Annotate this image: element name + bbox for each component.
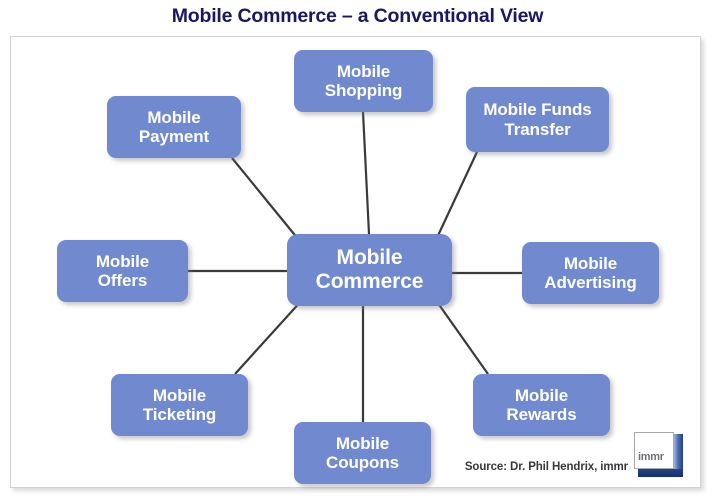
page-title: Mobile Commerce – a Conventional View [0, 5, 715, 28]
node-mobile-shopping[interactable]: MobileShopping [294, 50, 433, 112]
node-mobile-funds-transfer[interactable]: Mobile FundsTransfer [466, 87, 609, 152]
connector-mobile-commerce-to-mobile-shopping [363, 112, 369, 234]
node-mobile-advertising[interactable]: MobileAdvertising [522, 242, 659, 304]
source-note: Source: Dr. Phil Hendrix, immr [465, 461, 628, 473]
node-label-mobile-ticketing: MobileTicketing [138, 386, 221, 424]
node-label-mobile-rewards: MobileRewards [501, 386, 581, 424]
node-label-mobile-coupons: MobileCoupons [321, 434, 404, 472]
logo-wordmark: immr [638, 451, 664, 463]
node-label-mobile-advertising: MobileAdvertising [539, 254, 641, 292]
node-mobile-payment[interactable]: MobilePayment [107, 96, 241, 158]
node-label-mobile-offers: MobileOffers [91, 252, 154, 290]
node-mobile-coupons[interactable]: MobileCoupons [294, 422, 431, 484]
node-label-mobile-shopping: MobileShopping [320, 62, 408, 100]
connector-mobile-commerce-to-mobile-ticketing [235, 299, 303, 374]
immr-logo: immr [634, 432, 683, 477]
slide-canvas: Mobile Commerce – a Conventional View Mo… [0, 0, 715, 500]
node-label-mobile-payment: MobilePayment [134, 108, 214, 146]
node-label-mobile-commerce: MobileCommerce [311, 246, 429, 294]
diagram-panel: MobileCommerceMobileShoppingMobilePaymen… [10, 36, 701, 488]
connector-mobile-commerce-to-mobile-funds-transfer [435, 152, 477, 242]
logo-side-fold [674, 434, 683, 470]
node-mobile-ticketing[interactable]: MobileTicketing [111, 374, 248, 436]
node-label-mobile-funds-transfer: Mobile FundsTransfer [478, 100, 596, 138]
logo-bottom-fold [638, 469, 683, 477]
node-mobile-commerce[interactable]: MobileCommerce [287, 234, 452, 306]
connector-mobile-commerce-to-mobile-payment [232, 158, 303, 245]
node-mobile-offers[interactable]: MobileOffers [57, 240, 188, 302]
node-mobile-rewards[interactable]: MobileRewards [473, 374, 610, 436]
connector-mobile-commerce-to-mobile-rewards [435, 299, 488, 374]
